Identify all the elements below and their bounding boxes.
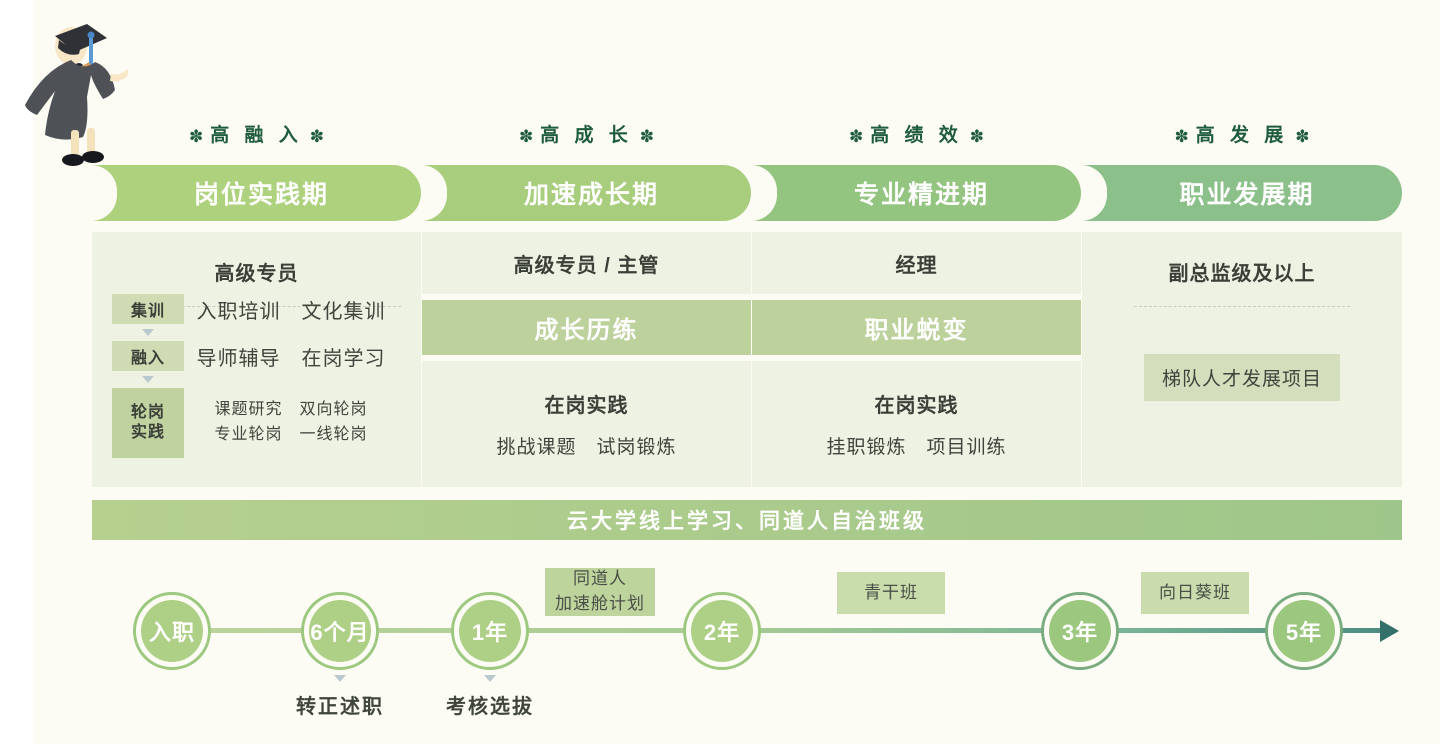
chevron-down-icon bbox=[112, 324, 184, 341]
accent-label-3: 职业蜕变 bbox=[865, 310, 969, 345]
timeline-badge-xiangrikuiban[interactable]: 向日葵班 bbox=[1141, 572, 1249, 614]
flower-ornament-icon: ✽ bbox=[849, 127, 863, 147]
chevron-down-icon bbox=[484, 675, 496, 682]
diagram-canvas: ✽高 融 入✽ 岗位实践期 高级专员 集训 入职培训 文化集训 融入 导师辅导 … bbox=[33, 0, 1440, 744]
flower-ornament-icon: ✽ bbox=[189, 127, 203, 147]
practice-head-3: 在岗实践 bbox=[875, 389, 959, 418]
timeline-node-label: 入职 bbox=[141, 600, 203, 662]
phase-tagline-3: ✽高 绩 效✽ bbox=[752, 120, 1081, 147]
timeline-node-2[interactable]: 1年 bbox=[451, 592, 529, 670]
timeline-node-1[interactable]: 6个月 bbox=[301, 592, 379, 670]
phase-banner-label-2: 加速成长期 bbox=[514, 175, 659, 211]
timeline-node-label: 5年 bbox=[1273, 600, 1335, 662]
timeline-node-label: 2年 bbox=[691, 600, 753, 662]
practice-head-2: 在岗实践 bbox=[545, 389, 629, 418]
role-title-3: 经理 bbox=[896, 249, 938, 278]
phase-banner-4[interactable]: 职业发展期 bbox=[1082, 165, 1402, 221]
role-title-4: 副总监级及以上 bbox=[1082, 232, 1402, 286]
practice-box-2: 在岗实践 挑战课题 试岗锻炼 bbox=[422, 361, 751, 487]
timeline-node-label: 3年 bbox=[1049, 600, 1111, 662]
platform-bar[interactable]: 云大学线上学习、同道人自治班级 bbox=[92, 500, 1402, 540]
phase-banner-label-4: 职业发展期 bbox=[1169, 175, 1314, 211]
talent-program-pill[interactable]: 梯队人才发展项目 bbox=[1144, 354, 1340, 401]
platform-bar-label: 云大学线上学习、同道人自治班级 bbox=[567, 505, 927, 535]
timeline-node-label: 6个月 bbox=[309, 600, 371, 662]
flower-ornament-icon: ✽ bbox=[1174, 127, 1188, 147]
stage-chip-rongru: 融入 bbox=[112, 341, 184, 371]
practice-row[interactable]: 集训 入职培训 文化集训 bbox=[112, 294, 398, 324]
phase-banner-3[interactable]: 专业精进期 bbox=[752, 165, 1081, 221]
flower-ornament-icon: ✽ bbox=[1295, 127, 1309, 147]
stage-items-jixun: 入职培训 文化集训 bbox=[184, 295, 398, 324]
role-box-2: 高级专员 / 主管 bbox=[422, 232, 751, 294]
practice-box-3: 在岗实践 挂职锻炼 项目训练 bbox=[752, 361, 1081, 487]
phase-banner-1[interactable]: 岗位实践期 bbox=[92, 165, 421, 221]
practice-items-3: 挂职锻炼 项目训练 bbox=[826, 432, 1006, 459]
phase-banner-label-3: 专业精进期 bbox=[844, 175, 989, 211]
timeline-node-5[interactable]: 5年 bbox=[1265, 592, 1343, 670]
accent-box-2[interactable]: 成长历练 bbox=[422, 300, 751, 355]
timeline-caption-1: 转正述职 bbox=[265, 690, 415, 719]
flower-ornament-icon: ✽ bbox=[310, 127, 324, 147]
timeline-caption-2: 考核选拔 bbox=[415, 690, 565, 719]
role-box-3: 经理 bbox=[752, 232, 1081, 294]
stage-chip-lungang: 轮岗 实践 bbox=[112, 388, 184, 458]
chevron-down-icon bbox=[334, 675, 346, 682]
flower-ornament-icon: ✽ bbox=[640, 127, 654, 147]
timeline-badge-tongdaoren[interactable]: 同道人 加速舱计划 bbox=[545, 568, 655, 616]
stage-chip-jixun: 集训 bbox=[112, 294, 184, 324]
timeline-node-0[interactable]: 入职 bbox=[133, 592, 211, 670]
stage-items-lungang: 课题研究 双向轮岗 专业轮岗 一线轮岗 bbox=[184, 398, 398, 448]
timeline-badge-qingganban[interactable]: 青干班 bbox=[837, 572, 945, 614]
flower-ornament-icon: ✽ bbox=[970, 127, 984, 147]
chevron-down-icon bbox=[112, 371, 184, 388]
career-timeline: 入职 6个月 转正述职 1年 考核选拔 2年 3年 5年 同道人 加速舱计划 青… bbox=[33, 560, 1440, 744]
role-title-2: 高级专员 / 主管 bbox=[514, 249, 660, 278]
timeline-node-label: 1年 bbox=[459, 600, 521, 662]
phase-tagline-4: ✽高 发 展✽ bbox=[1082, 120, 1402, 147]
role-title-1: 高级专员 bbox=[92, 232, 421, 286]
graduate-illustration bbox=[15, 2, 135, 180]
practice-rows-1: 集训 入职培训 文化集训 融入 导师辅导 在岗学习 轮岗 实践 课题研究 双向轮… bbox=[112, 294, 398, 458]
practice-row[interactable]: 轮岗 实践 课题研究 双向轮岗 专业轮岗 一线轮岗 bbox=[112, 388, 398, 458]
card-divider bbox=[1134, 306, 1350, 307]
phase-card-4: 副总监级及以上 梯队人才发展项目 bbox=[1082, 232, 1402, 487]
phase-tagline-2: ✽高 成 长✽ bbox=[422, 120, 751, 147]
phase-banner-label-1: 岗位实践期 bbox=[184, 175, 329, 211]
practice-items-2: 挑战课题 试岗锻炼 bbox=[496, 432, 676, 459]
accent-label-2: 成长历练 bbox=[535, 310, 639, 345]
timeline-node-4[interactable]: 3年 bbox=[1041, 592, 1119, 670]
practice-row[interactable]: 融入 导师辅导 在岗学习 bbox=[112, 341, 398, 371]
stage-items-rongru: 导师辅导 在岗学习 bbox=[184, 342, 398, 371]
flower-ornament-icon: ✽ bbox=[519, 127, 533, 147]
accent-box-3[interactable]: 职业蜕变 bbox=[752, 300, 1081, 355]
phase-card-1: 高级专员 集训 入职培训 文化集训 融入 导师辅导 在岗学习 轮岗 实践 课题研… bbox=[92, 232, 421, 487]
phase-banner-2[interactable]: 加速成长期 bbox=[422, 165, 751, 221]
timeline-arrow-icon bbox=[1380, 620, 1399, 642]
phase-tagline-1: ✽高 融 入✽ bbox=[92, 120, 421, 147]
timeline-node-3[interactable]: 2年 bbox=[683, 592, 761, 670]
